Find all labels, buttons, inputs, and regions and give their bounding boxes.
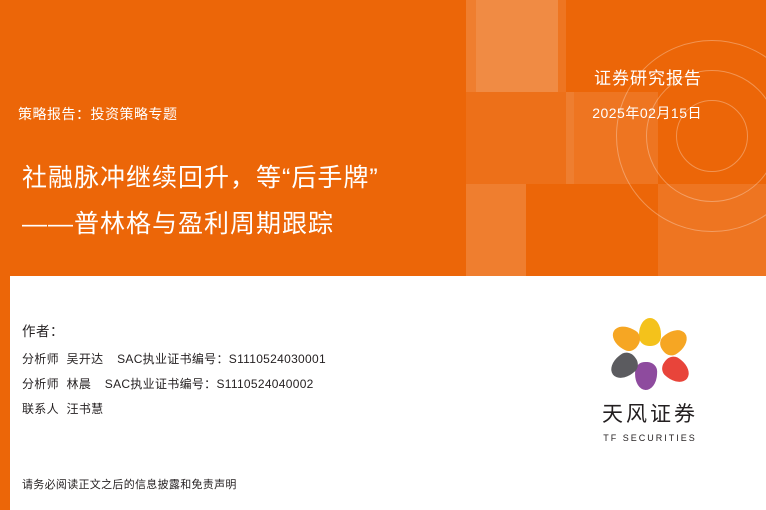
footer-disclaimer: 请务必阅读正文之后的信息披露和免责声明 [22,476,237,492]
report-date: 2025年02月15日 [592,103,702,123]
author-row: 分析师 林晨 SAC执业证书编号：S1110524040002 [22,375,326,392]
page-subtitle: ——普林格与盈利周期跟踪 [22,204,334,240]
author-certificate: SAC执业证书编号：S1110524030001 [117,350,326,367]
left-accent-stripe [0,276,10,510]
cover-banner: 证券研究报告 2025年02月15日 策略报告：投资策略专题 社融脉冲继续回升，… [0,0,766,276]
author-name: 林晨 [67,375,92,392]
logo-company-name: 天风证券 [580,398,720,428]
author-role: 分析师 [22,375,59,392]
author-row: 分析师 吴开达 SAC执业证书编号：S1110524030001 [22,350,326,367]
authors-label: 作者： [22,320,326,340]
company-logo: 天风证券 TF SECURITIES [580,318,720,443]
report-cover-page: 证券研究报告 2025年02月15日 策略报告：投资策略专题 社融脉冲继续回升，… [0,0,766,510]
author-name: 汪书慧 [67,400,104,417]
authors-block: 作者： 分析师 吴开达 SAC执业证书编号：S1110524030001 分析师… [22,320,326,425]
flower-petals-icon [609,318,691,392]
author-role: 分析师 [22,350,59,367]
report-type-label: 证券研究报告 [594,64,702,89]
author-role: 联系人 [22,400,59,417]
page-title: 社融脉冲继续回升，等“后手牌” [22,158,379,194]
author-row: 联系人 汪书慧 [22,400,326,417]
banner-decoration [466,0,766,276]
logo-company-name-en: TF SECURITIES [580,433,720,443]
report-category: 策略报告：投资策略专题 [18,104,178,124]
author-certificate: SAC执业证书编号：S1110524040002 [105,375,314,392]
author-name: 吴开达 [67,350,104,367]
